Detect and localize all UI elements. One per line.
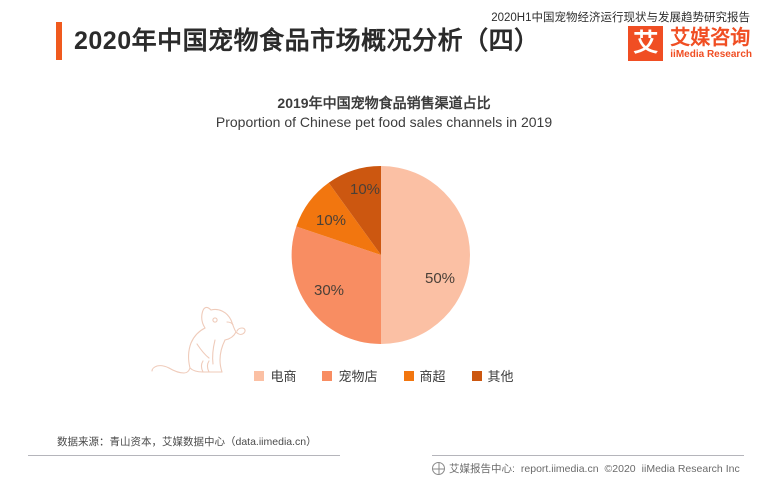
logo-text-group: 艾媒咨询 iiMedia Research xyxy=(670,28,752,60)
report-center-label: 艾媒报告中心: xyxy=(449,461,515,476)
chart-title-en: Proportion of Chinese pet food sales cha… xyxy=(0,114,768,130)
page-header: 2020H1中国宠物经济运行现状与发展趋势研究报告 2020年中国宠物食品市场概… xyxy=(0,0,768,74)
logo-name-en: iiMedia Research xyxy=(670,49,752,60)
chart-legend: 电商 宠物店 商超 其他 xyxy=(0,366,768,385)
chart-title-cn: 2019年中国宠物食品销售渠道占比 xyxy=(0,93,768,113)
legend-label-3: 其他 xyxy=(488,366,514,385)
copyright-text: ©2020 xyxy=(605,463,636,475)
legend-label-0: 电商 xyxy=(270,366,296,385)
pie-chart-area: 50% 30% 10% 10% xyxy=(0,140,768,400)
legend-label-1: 宠物店 xyxy=(338,366,377,385)
report-center-url[interactable]: report.iimedia.cn xyxy=(521,463,599,475)
legend-item-2[interactable]: 商超 xyxy=(404,366,446,385)
footer-divider-right xyxy=(432,455,744,456)
footer-bar: 艾媒报告中心: report.iimedia.cn ©2020 iiMedia … xyxy=(432,461,752,476)
iimedia-logo: 艾 艾媒咨询 iiMedia Research xyxy=(628,26,752,61)
company-name: iiMedia Research Inc xyxy=(642,463,740,475)
page-title-group: 2020年中国宠物食品市场概况分析（四） xyxy=(56,22,540,60)
globe-icon xyxy=(432,462,445,475)
legend-swatch-icon-3 xyxy=(472,371,482,381)
pie-slice-0[interactable] xyxy=(381,166,470,344)
page-title: 2020年中国宠物食品市场概况分析（四） xyxy=(74,29,540,54)
legend-swatch-icon-2 xyxy=(404,371,414,381)
legend-swatch-icon-0 xyxy=(254,371,264,381)
legend-swatch-icon-1 xyxy=(322,371,332,381)
pie-slice-label-1: 30% xyxy=(314,282,344,299)
logo-name-cn: 艾媒咨询 xyxy=(670,28,752,49)
pie-slice-label-3: 10% xyxy=(350,181,380,198)
legend-item-1[interactable]: 宠物店 xyxy=(322,366,377,385)
pie-slice-label-0: 50% xyxy=(425,270,455,287)
legend-item-0[interactable]: 电商 xyxy=(254,366,296,385)
title-accent-bar xyxy=(56,22,62,60)
footer-divider-left xyxy=(28,455,340,456)
pie-chart: 50% 30% 10% 10% xyxy=(0,140,768,400)
logo-mark-icon: 艾 xyxy=(628,26,663,61)
pie-slice-label-2: 10% xyxy=(316,212,346,229)
data-source-note: 数据来源：青山资本，艾媒数据中心（data.iimedia.cn） xyxy=(57,434,317,449)
legend-label-2: 商超 xyxy=(420,366,446,385)
legend-item-3[interactable]: 其他 xyxy=(472,366,514,385)
